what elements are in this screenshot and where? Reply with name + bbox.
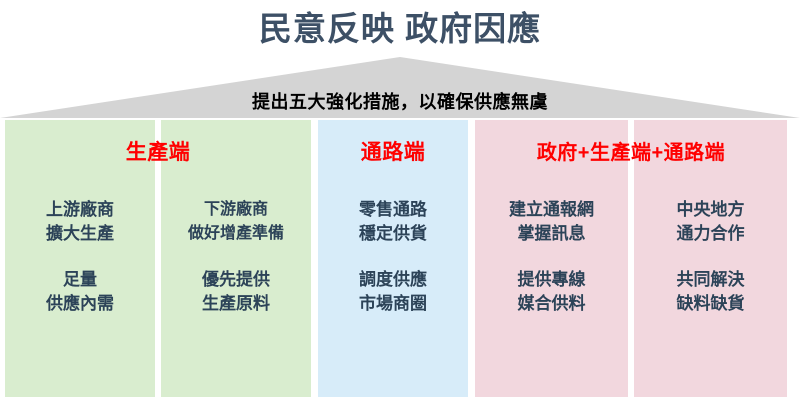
text-line: 建立通報網 xyxy=(475,198,628,222)
text-line: 共同解決 xyxy=(634,268,787,292)
text-line: 調度供應 xyxy=(318,268,468,292)
text-line: 市場商圈 xyxy=(318,292,468,316)
group-production: 上游廠商 擴大生產 足量 供應內需 下游廠商 做好增產準備 優先提供 生產原料 xyxy=(5,120,311,397)
text-line: 零售通路 xyxy=(318,198,468,222)
text-line: 擴大生產 xyxy=(5,222,155,246)
text-line: 掌握訊息 xyxy=(475,222,628,246)
panel-central-local-item-1: 中央地方 通力合作 xyxy=(634,198,787,246)
text-line: 上游廠商 xyxy=(5,198,155,222)
text-line: 足量 xyxy=(5,268,155,292)
text-line: 中央地方 xyxy=(634,198,787,222)
text-line: 提供專線 xyxy=(475,268,628,292)
panel-central-local-item-2: 共同解決 缺料缺貨 xyxy=(634,268,787,316)
text-line: 優先提供 xyxy=(161,268,311,292)
group-channel: 零售通路 穩定供貨 調度供應 市場商圈 通路端 xyxy=(318,120,468,397)
group-header-channel: 通路端 xyxy=(318,136,468,166)
panel-upstream-item-1: 上游廠商 擴大生產 xyxy=(5,198,155,246)
group-header-government-production-channel: 政府+生產端+通路端 xyxy=(475,136,787,165)
panel-retail-item-1: 零售通路 穩定供貨 xyxy=(318,198,468,246)
panel-upstream-item-2: 足量 供應內需 xyxy=(5,268,155,316)
panel-downstream-item-1: 下游廠商 做好增產準備 xyxy=(161,198,311,246)
roof-caption: 提出五大強化措施，以確保供應無虞 xyxy=(0,88,800,114)
text-line: 供應內需 xyxy=(5,292,155,316)
text-line: 媒合供料 xyxy=(475,292,628,316)
group-government-production-channel: 建立通報網 掌握訊息 提供專線 媒合供料 中央地方 通力合作 共同解決 缺料缺貨 xyxy=(475,120,787,397)
infographic-canvas: 民意反映 政府因應 提出五大強化措施，以確保供應無虞 上游廠商 擴大生產 足量 … xyxy=(0,0,800,401)
text-line: 下游廠商 xyxy=(161,198,311,222)
panel-reporting-network-item-1: 建立通報網 掌握訊息 xyxy=(475,198,628,246)
group-header-production: 生產端 xyxy=(5,136,311,166)
text-line: 穩定供貨 xyxy=(318,222,468,246)
text-line: 缺料缺貨 xyxy=(634,292,787,316)
text-line: 做好增產準備 xyxy=(161,222,311,246)
panel-reporting-network-item-2: 提供專線 媒合供料 xyxy=(475,268,628,316)
text-line: 生產原料 xyxy=(161,292,311,316)
text-line: 通力合作 xyxy=(634,222,787,246)
panel-downstream-item-2: 優先提供 生產原料 xyxy=(161,268,311,316)
panel-retail-item-2: 調度供應 市場商圈 xyxy=(318,268,468,316)
panel-band: 上游廠商 擴大生產 足量 供應內需 下游廠商 做好增產準備 優先提供 生產原料 xyxy=(0,120,800,397)
page-title: 民意反映 政府因應 xyxy=(0,8,800,50)
